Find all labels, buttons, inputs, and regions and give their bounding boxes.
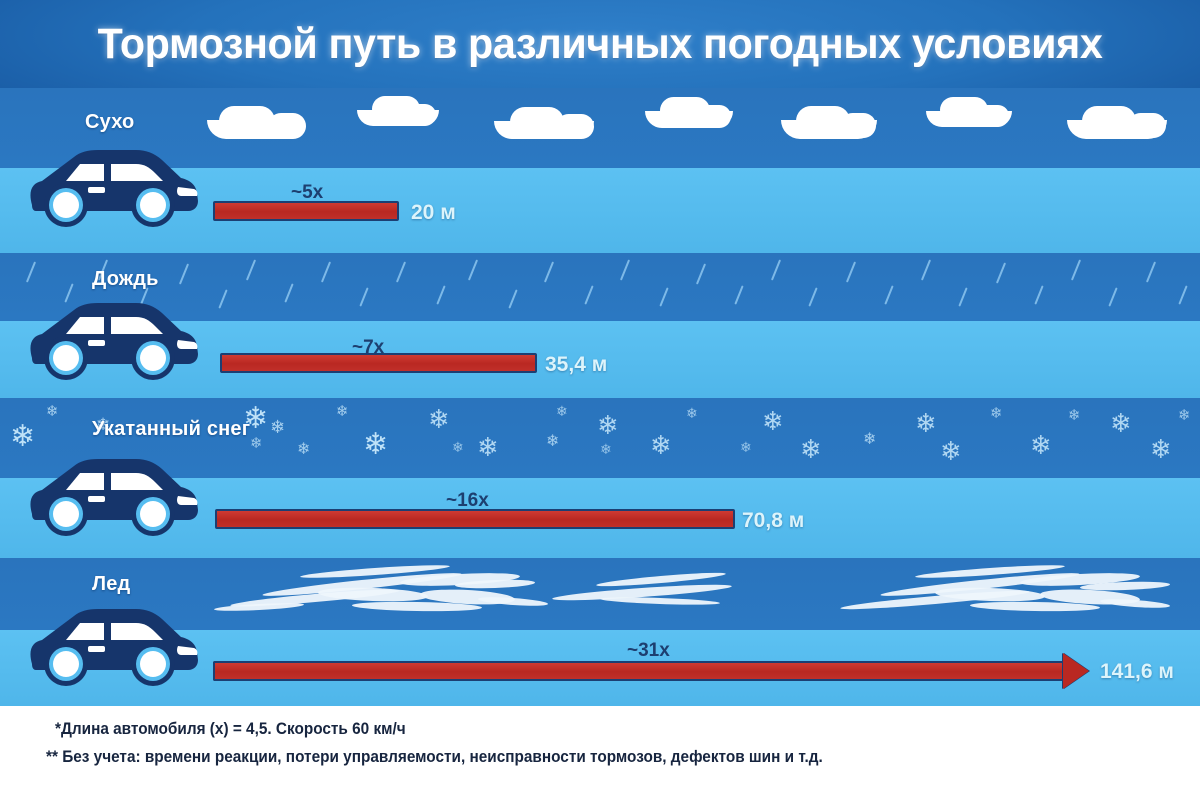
snowflake-icon: ❄	[600, 442, 612, 456]
row-label-rain: Дождь	[92, 268, 159, 291]
bar-snow	[215, 509, 735, 529]
header-banner: Тормозной путь в различных погодных усло…	[0, 0, 1200, 88]
cloud-icon	[975, 105, 1009, 127]
snowflake-icon: ❄	[1068, 408, 1081, 423]
cloud-icon	[556, 114, 594, 139]
snowflake-icon: ❄	[650, 432, 672, 458]
snowflake-icon: ❄	[686, 406, 698, 420]
snowflake-icon: ❄	[990, 406, 1003, 421]
snowflake-icon: ❄	[336, 404, 349, 419]
snowflake-icon: ❄	[297, 442, 310, 458]
snowflake-icon: ❄	[740, 440, 752, 454]
page-title: Тормозной путь в различных погодных усло…	[24, 0, 1176, 88]
car-icon-ice	[18, 602, 203, 693]
bar-ice	[213, 661, 1064, 681]
snowflake-icon: ❄	[46, 404, 59, 419]
distance-snow: 70,8 м	[742, 509, 804, 533]
cloud-icon	[840, 113, 876, 138]
car-icon-dry	[18, 143, 203, 234]
snowflake-icon: ❄	[597, 412, 619, 438]
row-label-ice: Лед	[92, 573, 130, 596]
footnotes: *Длина автомобиля (х) = 4,5. Скорость 60…	[0, 706, 1200, 785]
snowflake-icon: ❄	[1150, 436, 1172, 462]
snowflake-icon: ❄	[477, 434, 499, 460]
snowflake-icon: ❄	[363, 430, 388, 460]
distance-ice: 141,6 м	[1100, 660, 1174, 684]
car-icon-rain	[18, 296, 203, 387]
snowflake-icon: ❄	[863, 432, 876, 448]
multiplier-ice: ~31x	[627, 640, 670, 662]
footnote-line-1: *Длина автомобиля (х) = 4,5. Скорость 60…	[55, 720, 406, 739]
snowflake-icon: ❄	[1030, 432, 1052, 458]
car-icon-snow	[18, 452, 203, 543]
cloud-icon	[1128, 113, 1166, 138]
snowflake-icon: ❄	[800, 436, 822, 462]
snowflake-icon: ❄	[762, 408, 784, 434]
snowflake-icon: ❄	[250, 436, 263, 451]
snowflake-icon: ❄	[1178, 408, 1191, 423]
cloud-icon	[404, 104, 436, 126]
snowflake-icon: ❄	[940, 438, 962, 464]
snowflake-icon: ❄	[452, 440, 464, 454]
snowflake-icon: ❄	[556, 404, 568, 418]
snowflake-icon: ❄	[915, 410, 937, 436]
snowflake-icon: ❄	[428, 406, 450, 432]
cloud-icon	[219, 106, 275, 136]
footnote-line-2: ** Без учета: времени реакции, потери уп…	[46, 748, 823, 767]
snowflake-icon: ❄	[10, 422, 35, 452]
cloud-icon	[697, 105, 731, 128]
arrowhead-icon	[1063, 653, 1089, 689]
snowflake-icon: ❄	[270, 418, 285, 436]
distance-rain: 35,4 м	[545, 353, 607, 377]
bar-rain	[220, 353, 537, 373]
bar-dry	[213, 201, 399, 221]
cloud-icon	[268, 113, 306, 139]
distance-dry: 20 м	[411, 201, 456, 225]
snowflake-icon: ❄	[546, 434, 559, 450]
row-label-snow: Укатанный снег	[92, 418, 250, 441]
row-label-dry: Сухо	[85, 111, 134, 134]
infographic-root: Тормозной путь в различных погодных усло…	[0, 0, 1200, 785]
snowflake-icon: ❄	[1110, 410, 1132, 436]
